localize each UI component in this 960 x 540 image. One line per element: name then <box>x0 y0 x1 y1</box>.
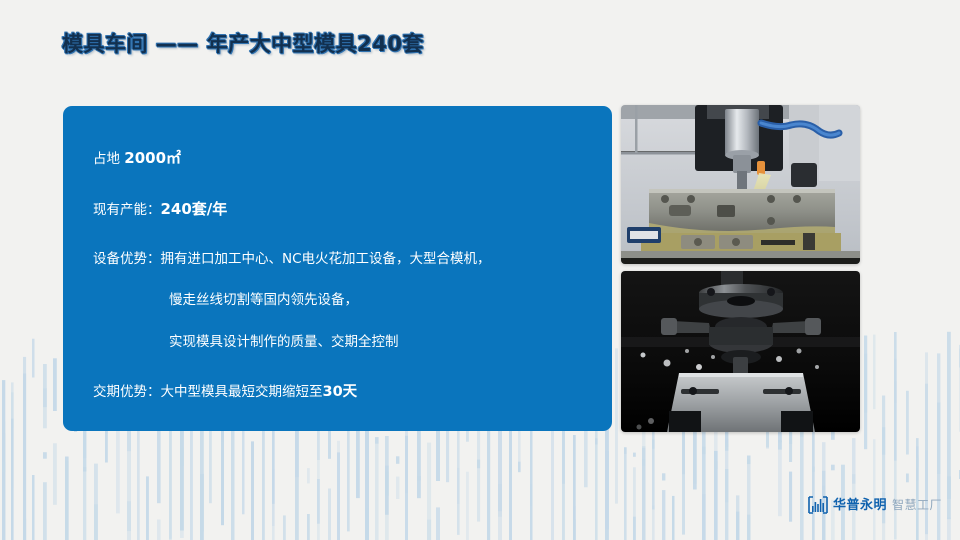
panel-line-equipment-1-text: 设备优势：拥有进口加工中心、NC电火花加工设备，大型合模机， <box>93 251 491 267</box>
brand-logo: 华普永明 智慧工厂 <box>808 496 942 514</box>
brand-tagline: 智慧工厂 <box>892 499 942 511</box>
bar-chart-bracket-icon <box>808 496 828 514</box>
panel-line-capacity-prefix: 现有产能： <box>93 202 161 218</box>
panel-line-equipment-3: 实现模具设计制作的质量、交期全控制 <box>93 333 590 353</box>
photo-cnc-milling-image <box>621 105 860 264</box>
panel-line-equipment-1: 设备优势：拥有进口加工中心、NC电火花加工设备，大型合模机， <box>93 250 590 270</box>
panel-line-area-value: 2000㎡ <box>124 149 181 167</box>
photo-cnc-milling <box>621 105 860 264</box>
panel-line-area: 占地 2000㎡ <box>93 148 590 170</box>
panel-line-leadtime: 交期优势：大中型模具最短交期缩短至30天 <box>93 382 590 403</box>
panel-line-leadtime-value: 30天 <box>323 384 358 400</box>
content-panel: 占地 2000㎡ 现有产能：240套/年 设备优势：拥有进口加工中心、NC电火花… <box>63 106 612 431</box>
panel-line-area-prefix: 占地 <box>93 151 124 167</box>
panel-line-capacity: 现有产能：240套/年 <box>93 199 590 221</box>
page-title-text: 模具车间 —— 年产大中型模具240套 <box>62 28 424 58</box>
panel-line-capacity-value: 240套/年 <box>161 200 228 218</box>
photo-cnc-spindle <box>621 271 860 432</box>
photo-cnc-spindle-image <box>621 271 860 432</box>
brand-name: 华普永明 <box>833 499 887 512</box>
panel-line-equipment-3-text: 实现模具设计制作的质量、交期全控制 <box>169 334 399 350</box>
panel-line-equipment-2: 慢走丝线切割等国内领先设备， <box>93 291 590 311</box>
page-title: 模具车间 —— 年产大中型模具240套 <box>62 28 424 58</box>
panel-line-equipment-2-text: 慢走丝线切割等国内领先设备， <box>169 292 358 308</box>
panel-line-leadtime-prefix: 交期优势：大中型模具最短交期缩短至 <box>93 384 323 400</box>
